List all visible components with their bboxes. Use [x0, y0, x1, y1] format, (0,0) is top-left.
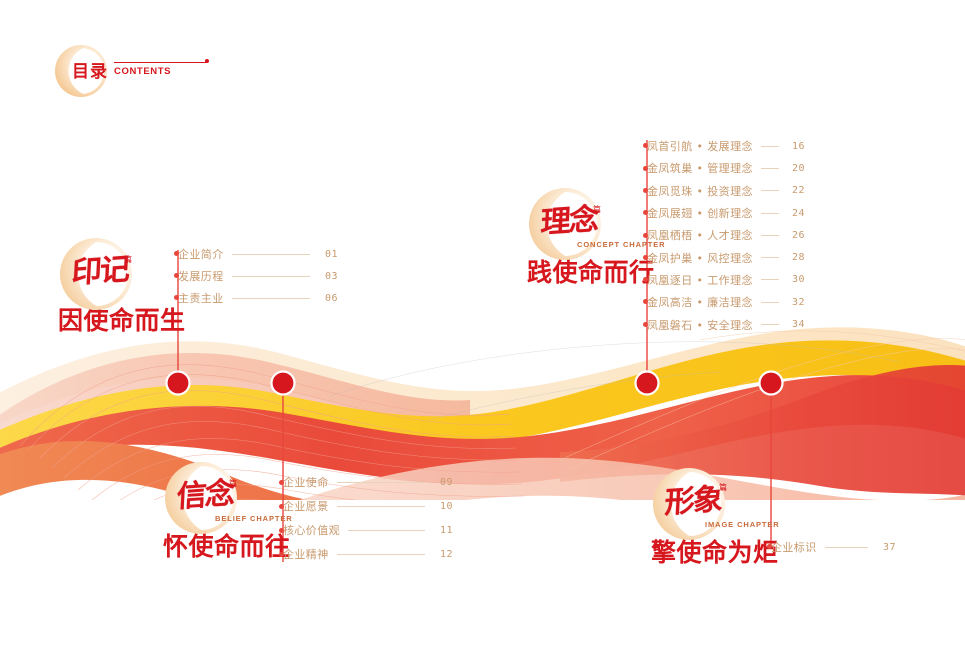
list-item-page: 11 — [433, 525, 453, 536]
leader-line — [761, 213, 779, 214]
seal-title-cn: 形象 — [664, 474, 723, 522]
list-item[interactable]: 发展历程 03 — [178, 265, 338, 287]
timeline-dot — [636, 372, 659, 395]
bullet-icon — [279, 504, 284, 509]
bullet-icon — [279, 552, 284, 557]
seal-subtitle-en: BELIEF CHAPTER — [215, 514, 293, 523]
leader-line — [337, 506, 425, 507]
list-item[interactable]: 企业使命 09 — [283, 470, 453, 494]
list-item-page: 28 — [787, 252, 805, 263]
list-item[interactable]: 金凤筑巢 • 管理理念 20 — [647, 157, 805, 179]
bullet-icon — [279, 480, 284, 485]
seal-concept: 理念 篇 CONCEPT CHAPTER — [527, 188, 657, 266]
seal-image: 形象 篇 IMAGE CHAPTER — [651, 468, 781, 546]
leader-line — [761, 235, 779, 236]
list-item[interactable]: 企业愿景 10 — [283, 494, 453, 518]
contents-page: 目录 CONTENTS 印记 篇 因使命而生 企业简介 01 发展历程 03 — [0, 0, 965, 659]
list-item-label: 凤凰栖梧 • 人才理念 — [647, 227, 753, 243]
seal-title-cn: 印记 — [71, 244, 130, 292]
list-item-page: 37 — [876, 542, 896, 553]
list-item[interactable]: 金凤护巢 • 风控理念 28 — [647, 246, 805, 268]
leader-line — [232, 298, 310, 299]
list-item-page: 16 — [787, 141, 805, 152]
list-item-label: 金凤护巢 • 风控理念 — [647, 250, 753, 266]
leader-line — [761, 168, 779, 169]
timeline-dot — [272, 372, 295, 395]
bullet-icon — [279, 528, 284, 533]
list-item-label: 凤凰逐日 • 工作理念 — [647, 272, 753, 288]
chapter-image-list: 企业标识 37 — [771, 536, 896, 558]
list-item-page: 22 — [787, 185, 805, 196]
list-item-page: 01 — [318, 249, 338, 260]
list-item[interactable]: 凤首引航 • 发展理念 16 — [647, 135, 805, 157]
leader-line — [232, 254, 310, 255]
list-item-label: 金凤高洁 • 廉洁理念 — [647, 294, 753, 310]
list-item[interactable]: 主责主业 06 — [178, 287, 338, 309]
list-item-label: 企业标识 — [771, 539, 817, 555]
list-item[interactable]: 核心价值观 11 — [283, 518, 453, 542]
seal-title-cn: 信念 — [176, 468, 235, 516]
list-item-page: 12 — [433, 549, 453, 560]
header-end-dot-icon — [205, 59, 209, 63]
leader-line — [761, 146, 779, 147]
list-item-page: 03 — [318, 271, 338, 282]
list-item-page: 20 — [787, 163, 805, 174]
list-item-label: 企业简介 — [178, 246, 224, 262]
list-item[interactable]: 企业简介 01 — [178, 243, 338, 265]
list-item[interactable]: 企业精神 12 — [283, 542, 453, 566]
list-item-page: 30 — [787, 274, 805, 285]
leader-line — [825, 547, 868, 548]
seal-imprint: 印记 篇 — [58, 238, 188, 316]
list-item-page: 06 — [318, 293, 338, 304]
list-item-label: 企业愿景 — [283, 498, 329, 514]
list-item-page: 32 — [787, 297, 805, 308]
timeline-dot — [760, 372, 783, 395]
seal-belief: 信念 篇 BELIEF CHAPTER — [163, 462, 293, 540]
list-item[interactable]: 凤凰磐石 • 安全理念 34 — [647, 313, 805, 335]
seal-mark: 篇 — [229, 478, 237, 489]
chapter-image: 形象 篇 IMAGE CHAPTER 擎使命为炬 — [651, 468, 781, 565]
list-item-label: 金凤展翅 • 创新理念 — [647, 205, 753, 221]
seal-subtitle-en: IMAGE CHAPTER — [705, 520, 780, 529]
list-item-label: 凤首引航 • 发展理念 — [647, 138, 753, 154]
list-item-label: 凤凰磐石 • 安全理念 — [647, 317, 753, 333]
list-item-page: 26 — [787, 230, 805, 241]
list-item-label: 主责主业 — [178, 290, 224, 306]
seal-title-cn: 理念 — [540, 194, 599, 242]
leader-line — [348, 530, 425, 531]
list-item[interactable]: 凤凰栖梧 • 人才理念 26 — [647, 224, 805, 246]
list-item[interactable]: 凤凰逐日 • 工作理念 30 — [647, 269, 805, 291]
seal-mark: 篇 — [719, 482, 727, 493]
list-item-label: 企业精神 — [283, 546, 329, 562]
list-item[interactable]: 企业标识 37 — [771, 536, 896, 558]
leader-line — [337, 554, 425, 555]
leader-line — [761, 257, 779, 258]
seal-mark: 篇 — [124, 254, 132, 265]
chapter-belief-list: 企业使命 09 企业愿景 10 核心价值观 11 企业精神 12 — [283, 470, 453, 566]
timeline-dot — [167, 372, 190, 395]
leader-line — [761, 279, 779, 280]
leader-line — [761, 190, 779, 191]
list-item-page: 24 — [787, 208, 805, 219]
chapter-concept-list: 凤首引航 • 发展理念 16 金凤筑巢 • 管理理念 20 金凤觅珠 • 投资理… — [647, 135, 805, 336]
list-item-label: 金凤筑巢 • 管理理念 — [647, 160, 753, 176]
chapter-concept: 理念 篇 CONCEPT CHAPTER 践使命而行 — [527, 188, 657, 285]
list-item-label: 核心价值观 — [283, 522, 340, 538]
list-item-label: 发展历程 — [178, 268, 224, 284]
list-item[interactable]: 金凤展翅 • 创新理念 24 — [647, 202, 805, 224]
list-item-page: 34 — [787, 319, 805, 330]
list-item[interactable]: 金凤觅珠 • 投资理念 22 — [647, 180, 805, 202]
list-item-label: 金凤觅珠 • 投资理念 — [647, 183, 753, 199]
list-item-page: 10 — [433, 501, 453, 512]
chapter-imprint: 印记 篇 因使命而生 — [58, 238, 188, 333]
chapter-belief: 信念 篇 BELIEF CHAPTER 怀使命而往 — [163, 462, 293, 559]
header-rule — [114, 62, 207, 63]
page-title: 目录 CONTENTS — [55, 45, 275, 100]
leader-line — [761, 324, 779, 325]
header-title-cn: 目录 — [72, 57, 108, 82]
list-item[interactable]: 金凤高洁 • 廉洁理念 32 — [647, 291, 805, 313]
chapter-imprint-list: 企业简介 01 发展历程 03 主责主业 06 — [178, 243, 338, 309]
header-title-en: CONTENTS — [114, 66, 171, 77]
list-item-page: 09 — [433, 477, 453, 488]
leader-line — [761, 302, 779, 303]
leader-line — [337, 482, 425, 483]
list-item-label: 企业使命 — [283, 474, 329, 490]
seal-mark: 篇 — [593, 204, 601, 215]
leader-line — [232, 276, 310, 277]
